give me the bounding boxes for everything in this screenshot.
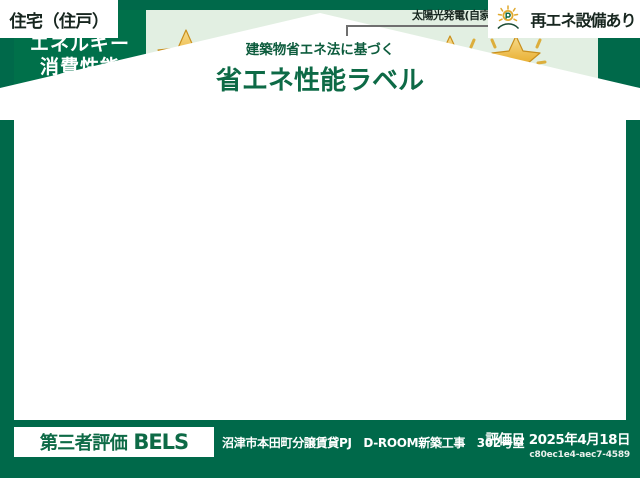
title-block: 建築物省エネ法に基づく 省エネ性能ラベル bbox=[0, 38, 640, 97]
house-type-badge: 住宅（住戸） bbox=[0, 0, 118, 38]
bels-logo-en: BELS bbox=[133, 430, 188, 454]
renewable-equipment-badge: 再エネ設備あり bbox=[488, 0, 640, 38]
renewable-badge-label: 再エネ設備あり bbox=[530, 7, 635, 31]
title-subtitle: 建築物省エネ法に基づく bbox=[0, 38, 640, 58]
house-type-badge-label: 住宅（住戸） bbox=[10, 7, 109, 32]
property-name: 沼津市本田町分譲賃貸PJ D-ROOM新築工事 302号室 bbox=[222, 434, 524, 451]
evaluation-id: c80ec1e4-aec7-4589 bbox=[486, 450, 630, 460]
evaluation-info: 評価日 2025年4月18日 c80ec1e4-aec7-4589 bbox=[486, 428, 630, 460]
evaluation-date: 評価日 2025年4月18日 bbox=[486, 428, 630, 448]
label-body-card bbox=[14, 95, 626, 420]
footer: 第三者評価 BELS 沼津市本田町分譲賃貸PJ D-ROOM新築工事 302号室… bbox=[0, 424, 640, 478]
bels-logo: 第三者評価 BELS bbox=[14, 427, 214, 457]
page-title: 省エネ性能ラベル bbox=[0, 60, 640, 97]
sun-renewable-icon bbox=[496, 5, 526, 33]
bels-logo-jp: 第三者評価 bbox=[40, 429, 128, 455]
energy-performance-label: 住宅（住戸） 再エネ設備あり 建築物省エネ法に基づく 省エネ性能ラベル エネルギ… bbox=[0, 0, 640, 478]
